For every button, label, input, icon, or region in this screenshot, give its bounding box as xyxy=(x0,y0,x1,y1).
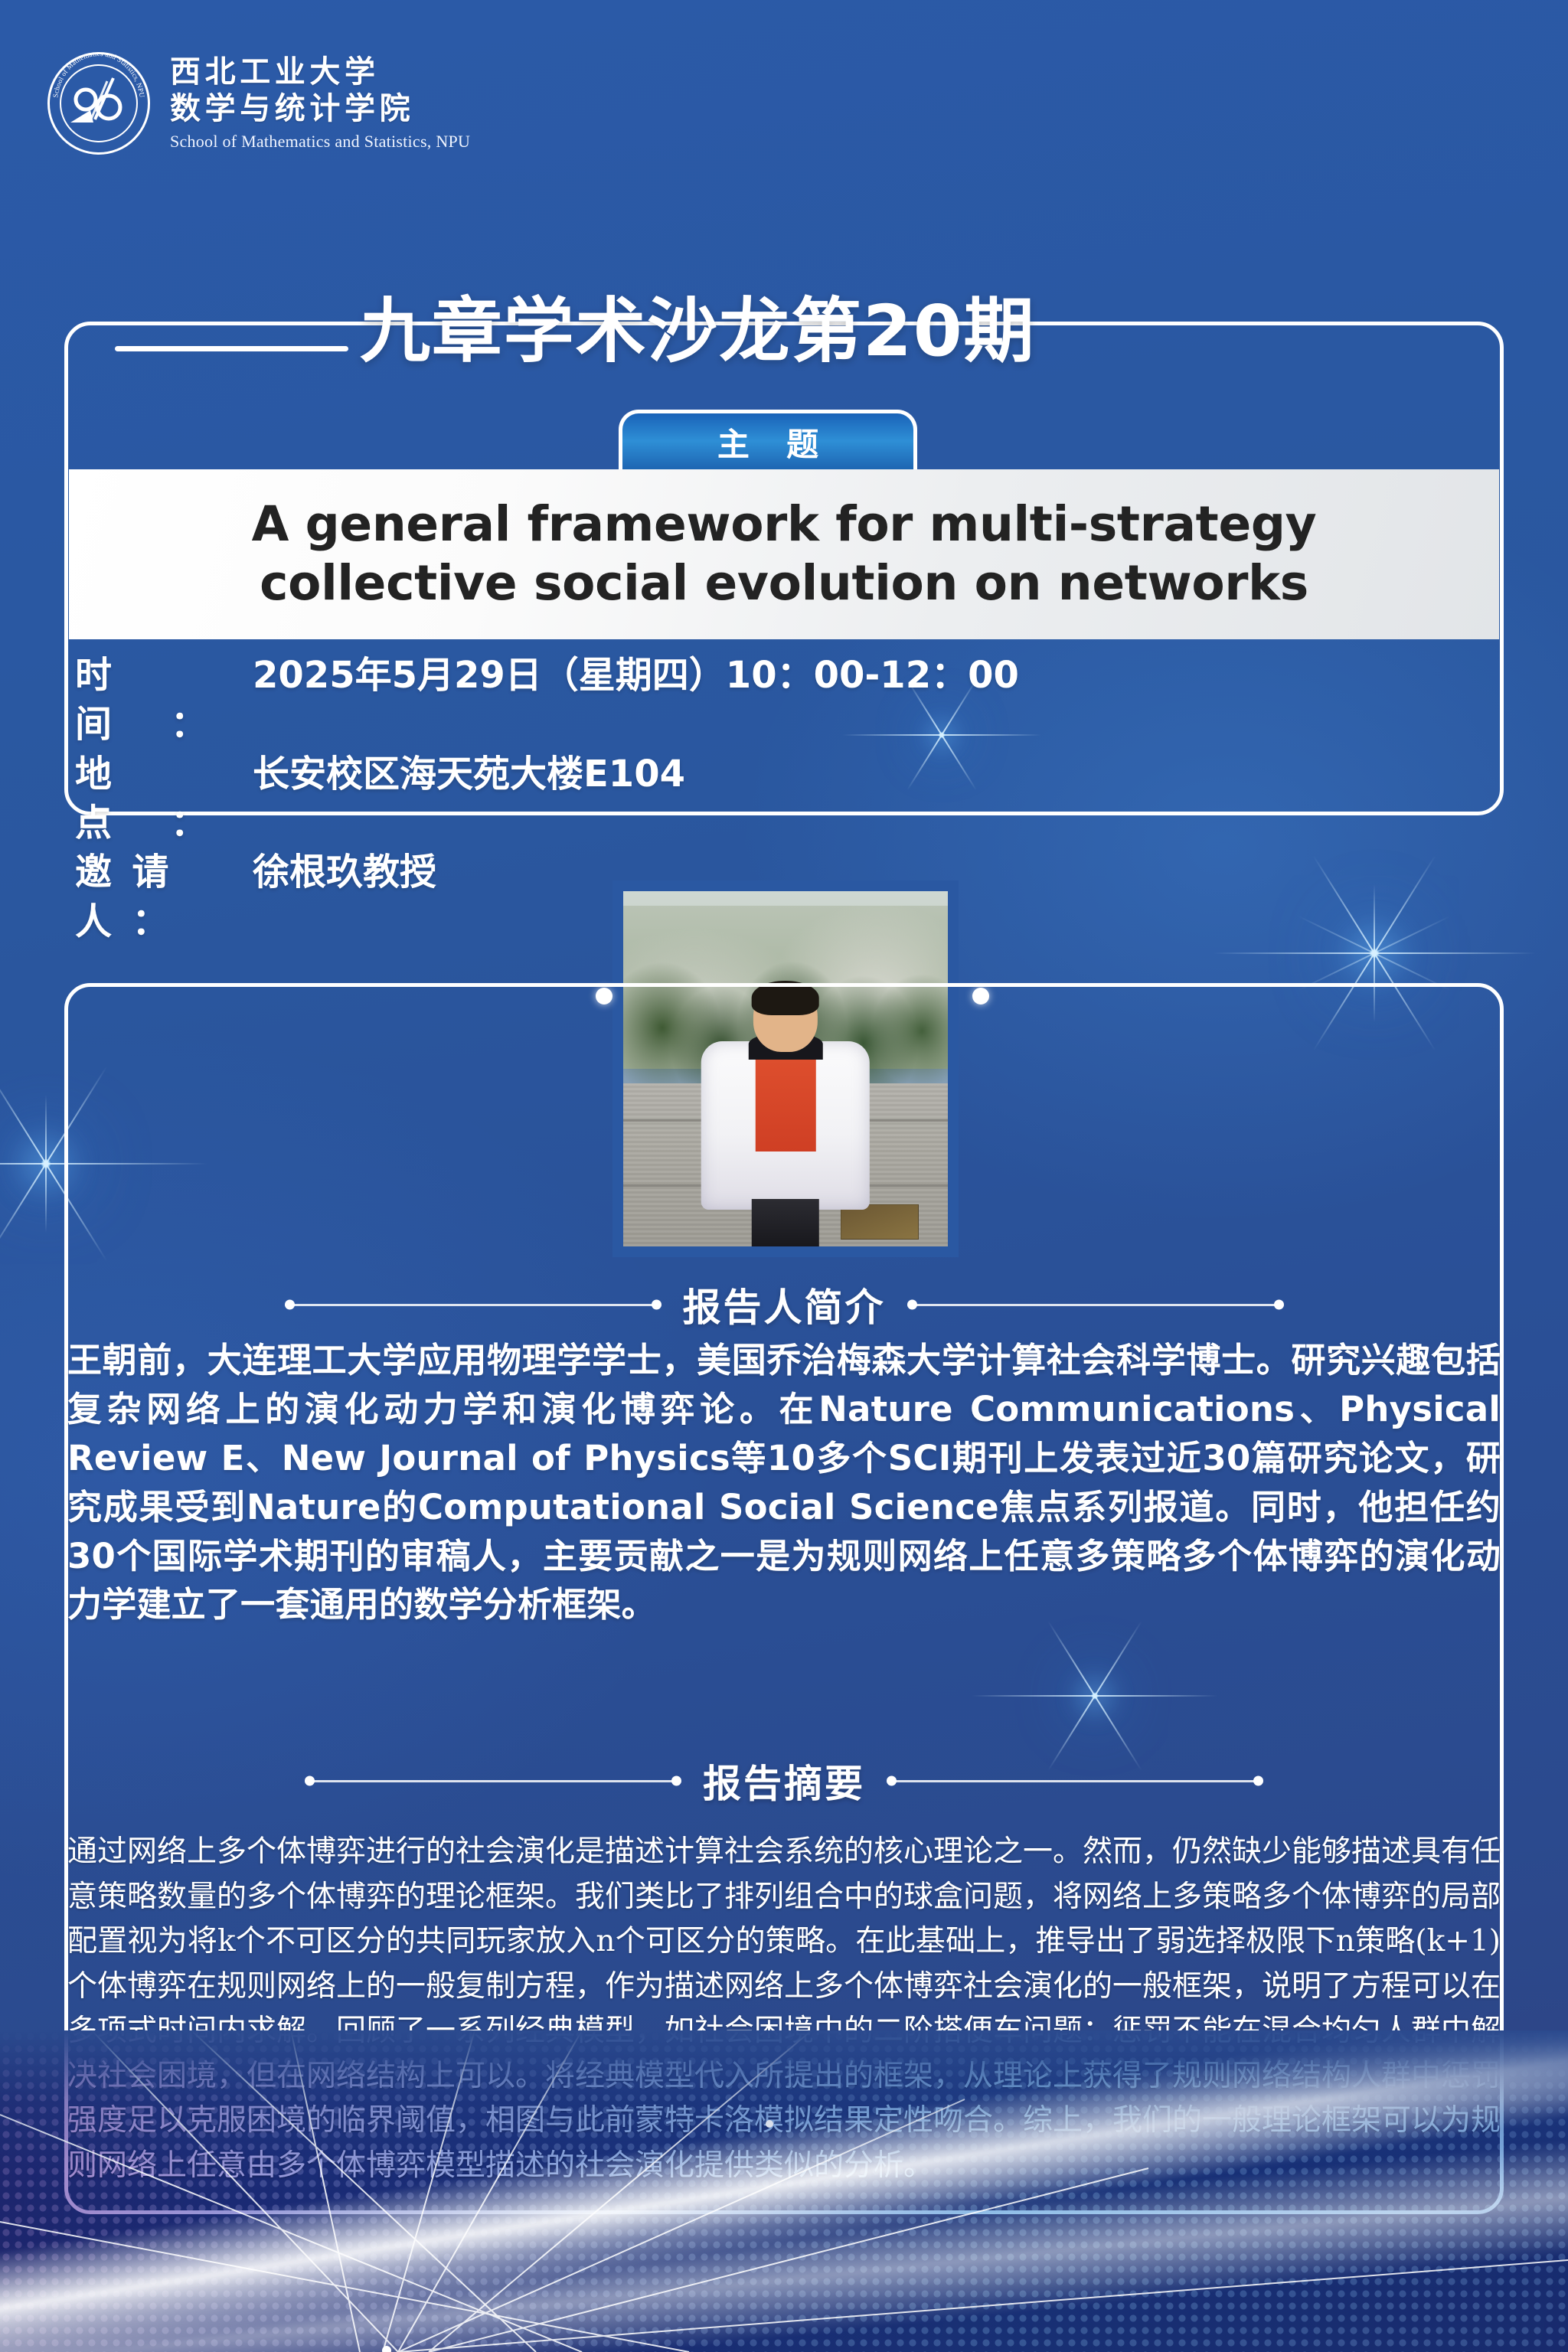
speaker-section-heading: 报告人简介 xyxy=(64,1277,1504,1332)
logo-university-name: 西北工业大学 xyxy=(170,56,470,88)
meta-value-time: 2025年5月29日（星期四）10：00-12：00 xyxy=(253,651,1019,700)
logo-english-name: School of Mathematics and Statistics, NP… xyxy=(170,132,470,152)
abstract-section-heading: 报告摘要 xyxy=(64,1753,1504,1808)
heading-rule-right xyxy=(891,1780,1259,1782)
paper-title-line-2: collective social evolution on networks xyxy=(260,554,1308,613)
seminar-poster: School of Mathematics and Statistics, NP… xyxy=(0,0,1568,2352)
topic-tab: 主 题 xyxy=(619,410,917,471)
speaker-section-title: 报告人简介 xyxy=(683,1277,886,1332)
emblem-swoosh-icon xyxy=(67,77,132,130)
heading-rule-left xyxy=(289,1304,657,1306)
title-rule-decoration xyxy=(115,346,348,351)
abstract-section-title: 报告摘要 xyxy=(703,1753,865,1808)
logo-school-name: 数学与统计学院 xyxy=(170,93,470,125)
meta-row-time: 时间： 2025年5月29日（星期四）10：00-12：00 xyxy=(75,651,1377,750)
speaker-bio-text: 王朝前，大连理工大学应用物理学学士，美国乔治梅森大学计算社会科学博士。研究兴趣包… xyxy=(67,1336,1501,1629)
heading-rule-left xyxy=(309,1780,677,1782)
meta-label-place: 地点： xyxy=(75,750,253,848)
university-logo: School of Mathematics and Statistics, NP… xyxy=(47,52,470,155)
meta-value-place: 长安校区海天苑大楼E104 xyxy=(253,750,685,799)
paper-title-line-1: A general framework for multi-strategy xyxy=(252,495,1317,554)
npu-emblem-icon: School of Mathematics and Statistics, NP… xyxy=(47,52,150,155)
heading-rule-right xyxy=(912,1304,1279,1306)
topic-tab-label: 主 题 xyxy=(704,419,831,465)
paper-title-band: A general framework for multi-strategy c… xyxy=(69,469,1499,639)
meta-label-host: 邀请人： xyxy=(75,848,253,946)
meta-value-host: 徐根玖教授 xyxy=(253,848,436,897)
meta-row-place: 地点： 长安校区海天苑大楼E104 xyxy=(75,750,1377,848)
meta-label-time: 时间： xyxy=(75,651,253,750)
network-mesh-decoration xyxy=(0,2030,1568,2352)
series-title: 九章学术沙龙第20期 xyxy=(360,274,1217,376)
